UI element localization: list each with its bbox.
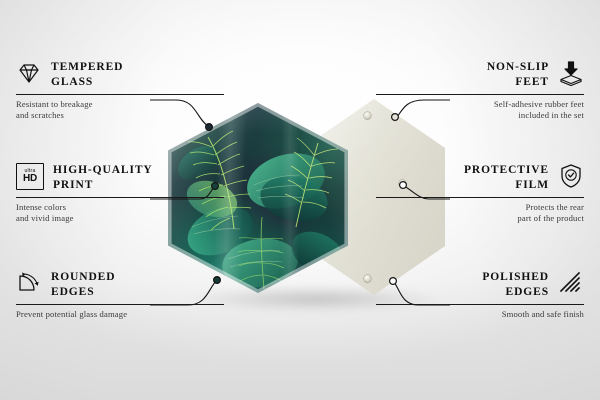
- callout-non-slip-feet[interactable]: NON-SLIP FEET Self-adhesive rubber feet …: [376, 60, 584, 120]
- callout-description: Self-adhesive rubber feet included in th…: [376, 99, 584, 120]
- press-down-pad-icon: [558, 60, 584, 86]
- callout-header: ultra HD HIGH-QUALITY PRINT: [16, 163, 224, 192]
- callout-header: NON-SLIP FEET: [376, 60, 584, 89]
- callout-rounded-edges[interactable]: ROUNDED EDGES Prevent potential glass da…: [16, 270, 224, 320]
- rounded-corner-icon: [16, 270, 42, 296]
- callout-rule: [376, 197, 584, 198]
- callout-rule: [16, 94, 224, 95]
- callout-header: TEMPERED GLASS: [16, 60, 224, 89]
- callout-description: Smooth and safe finish: [376, 309, 584, 320]
- callout-title: NON-SLIP FEET: [487, 60, 549, 89]
- callout-header: POLISHED EDGES: [376, 270, 584, 299]
- callout-description: Prevent potential glass damage: [16, 309, 224, 320]
- callout-title: HIGH-QUALITY PRINT: [53, 163, 153, 192]
- callout-high-quality-print[interactable]: ultra HD HIGH-QUALITY PRINT Intense colo…: [16, 163, 224, 223]
- callout-title: TEMPERED GLASS: [51, 60, 123, 89]
- callout-tempered-glass[interactable]: TEMPERED GLASS Resistant to breakage and…: [16, 60, 224, 120]
- callout-rule: [376, 304, 584, 305]
- callout-title: ROUNDED EDGES: [51, 270, 115, 299]
- shield-check-icon: [558, 163, 584, 189]
- callout-description: Intense colors and vivid image: [16, 202, 224, 223]
- callout-protective-film[interactable]: PROTECTIVE FILM Protects the rear part o…: [376, 163, 584, 223]
- diamond-icon: [16, 60, 42, 86]
- rubber-foot: [364, 112, 371, 119]
- callout-description: Protects the rear part of the product: [376, 202, 584, 223]
- callout-header: PROTECTIVE FILM: [376, 163, 584, 192]
- hatch-lines-icon: [558, 270, 584, 296]
- callout-description: Resistant to breakage and scratches: [16, 99, 224, 120]
- infographic-canvas: TEMPERED GLASS Resistant to breakage and…: [0, 0, 600, 400]
- callout-title: POLISHED EDGES: [482, 270, 549, 299]
- callout-polished-edges[interactable]: POLISHED EDGES Smooth and safe finish: [376, 270, 584, 320]
- ultra-hd-icon: ultra HD: [16, 163, 44, 190]
- callout-rule: [16, 304, 224, 305]
- callout-rule: [376, 94, 584, 95]
- callout-header: ROUNDED EDGES: [16, 270, 224, 299]
- callout-rule: [16, 197, 224, 198]
- callout-title: PROTECTIVE FILM: [464, 163, 549, 192]
- rubber-foot: [364, 275, 371, 282]
